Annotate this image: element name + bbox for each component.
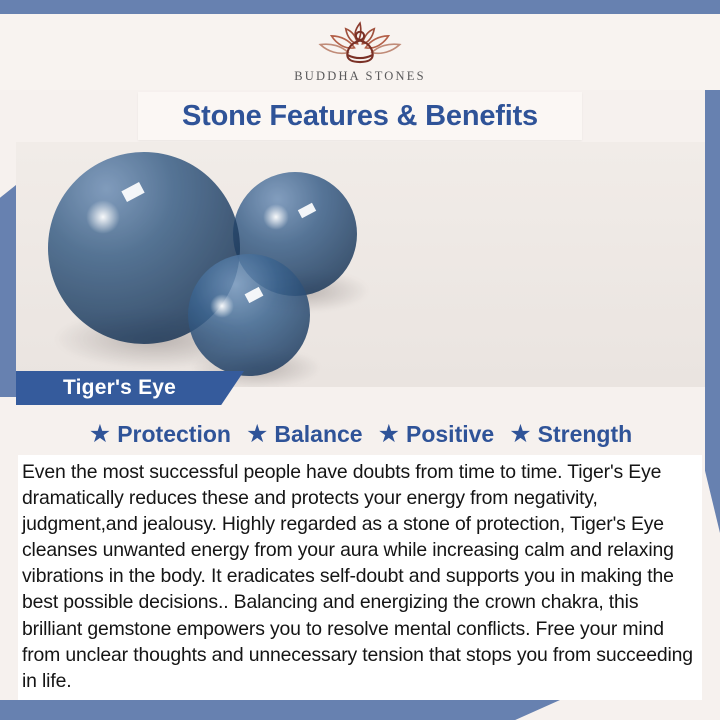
chatoyant-bands (188, 254, 310, 376)
benefit-item: ★ Positive (378, 421, 507, 448)
photo-background (16, 142, 705, 387)
highlight-glow (210, 294, 234, 318)
benefit-label: Protection (117, 421, 231, 448)
benefit-item: ★ Strength (509, 421, 632, 448)
brand-header: BUDDHA STONES (0, 14, 720, 90)
gemstone-sphere-small (188, 254, 310, 376)
left-accent-band (0, 185, 16, 397)
benefit-label: Balance (274, 421, 362, 448)
star-icon: ★ (246, 422, 268, 447)
stone-name-banner: Tiger's Eye (16, 371, 244, 405)
benefit-label: Strength (538, 421, 633, 448)
star-icon: ★ (509, 422, 531, 447)
lotus-meditation-icon (312, 20, 408, 66)
stone-name: Tiger's Eye (16, 376, 176, 400)
right-accent-band (705, 14, 720, 533)
title-banner: Stone Features & Benefits (138, 92, 582, 140)
page-title: Stone Features & Benefits (182, 100, 538, 133)
benefit-item: ★ Protection (89, 421, 243, 448)
benefit-label: Positive (406, 421, 494, 448)
highlight-glow (263, 204, 289, 230)
description-text: Even the most successful people have dou… (22, 459, 702, 694)
highlight-glow (86, 200, 120, 234)
description-panel: Even the most successful people have dou… (18, 455, 702, 700)
star-icon: ★ (378, 422, 400, 447)
benefit-item: ★ Balance (246, 421, 375, 448)
star-icon: ★ (89, 422, 111, 447)
brand-name: BUDDHA STONES (294, 69, 426, 84)
benefits-row: ★ Protection ★ Balance ★ Positive ★ Stre… (16, 416, 705, 452)
bottom-accent-bar (0, 700, 560, 720)
infographic-page: BUDDHA STONES Stone Features & Benefits (0, 0, 720, 720)
top-accent-bar (0, 0, 720, 14)
stone-photo (16, 142, 705, 387)
